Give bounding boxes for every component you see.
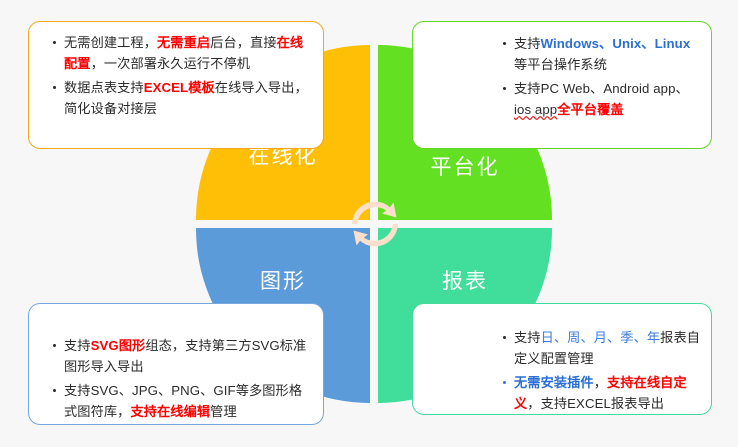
text-span: 无需重启 (157, 35, 210, 50)
card-online-list: 无需创建工程，无需重启后台，直接在线配置，一次部署永久运行不停机 数据点表支持E… (51, 32, 313, 120)
list-item: 支持SVG图形组态，支持第三方SVG标准图形导入导出 (51, 335, 313, 378)
text-span: ios app (514, 102, 557, 117)
text-span: 无需安装插件 (514, 375, 594, 390)
card-cross-platform-list: 支持Windows、Unix、Linux等平台操作系统 支持PC Web、And… (501, 33, 701, 121)
text-span: 支持 (64, 338, 91, 353)
text-span: 日、周、月、季、年 (541, 330, 661, 345)
list-item: 支持SVG、JPG、PNG、GIF等多图形格式图符库，支持在线编辑管理 (51, 380, 313, 423)
text-span: EXCEL模板 (144, 80, 215, 95)
card-graphics: 支持SVG图形组态，支持第三方SVG标准图形导入导出 支持SVG、JPG、PNG… (28, 303, 324, 425)
card-report: 支持日、周、月、季、年报表自定义配置管理 无需安装插件，支持在线自定义，支持EX… (412, 303, 712, 415)
text-span: ， (594, 375, 607, 390)
text-span: 管理 (210, 404, 237, 419)
list-item: 支持PC Web、Android app、ios app全平台覆盖 (501, 78, 701, 121)
diagram-canvas: 在线化 跨 平台化 图形 组态化 报表 自定义化 (0, 0, 738, 447)
list-item: 无需创建工程，无需重启后台，直接在线配置，一次部署永久运行不停机 (51, 32, 313, 75)
card-online: 无需创建工程，无需重启后台，直接在线配置，一次部署永久运行不停机 数据点表支持E… (28, 21, 324, 149)
text-span: Windows、Unix、Linux (541, 36, 691, 51)
card-graphics-list: 支持SVG图形组态，支持第三方SVG标准图形导入导出 支持SVG、JPG、PNG… (51, 335, 313, 423)
list-item: 无需安装插件，支持在线自定义，支持EXCEL报表导出 (501, 372, 701, 415)
text-span: 等平台操作系统 (514, 57, 607, 72)
text-span: 无需创建工程， (64, 35, 157, 50)
cycle-arrows-icon (342, 191, 408, 257)
card-cross-platform: 支持Windows、Unix、Linux等平台操作系统 支持PC Web、And… (412, 21, 712, 149)
card-report-list: 支持日、周、月、季、年报表自定义配置管理 无需安装插件，支持在线自定义，支持EX… (501, 327, 701, 415)
text-span: 支持 (514, 330, 541, 345)
text-span: 数据点表支持 (64, 80, 144, 95)
list-item: 支持日、周、月、季、年报表自定义配置管理 (501, 327, 701, 370)
text-span: 全平台覆盖 (557, 102, 623, 117)
text-span: ，一次部署永久运行不停机 (91, 56, 250, 71)
text-span: ，支持EXCEL报表导出 (527, 396, 664, 411)
text-span: 支持 (514, 36, 541, 51)
list-item: 数据点表支持EXCEL模板在线导入导出，简化设备对接层 (51, 77, 313, 120)
text-span: 后台，直接 (210, 35, 276, 50)
text-span: 支持在线编辑 (130, 404, 210, 419)
text-span: 支持PC Web、Android app、 (514, 81, 689, 96)
text-span: SVG图形 (91, 338, 146, 353)
list-item: 支持Windows、Unix、Linux等平台操作系统 (501, 33, 701, 76)
